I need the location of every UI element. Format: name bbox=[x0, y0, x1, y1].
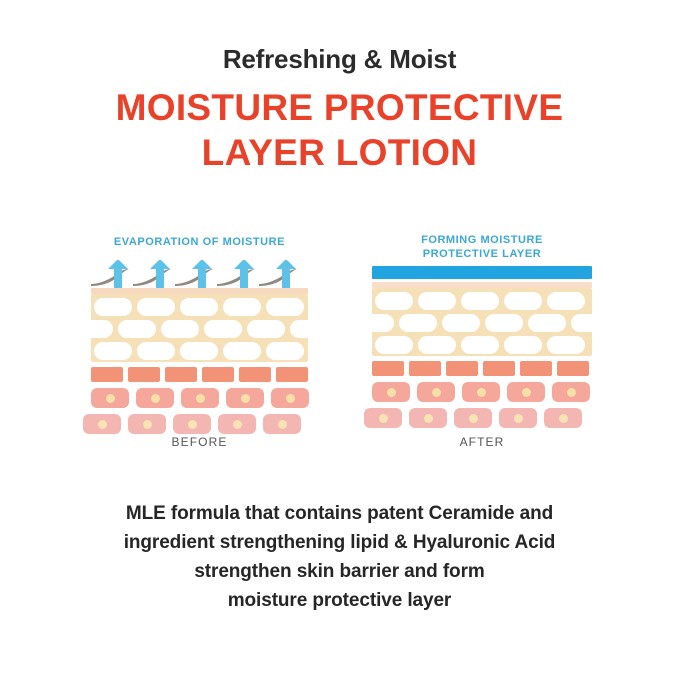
skin-cell bbox=[83, 414, 121, 434]
skin-cell bbox=[173, 414, 211, 434]
lipid-brick bbox=[485, 314, 523, 332]
lipid-brick bbox=[266, 298, 304, 316]
granular-cell bbox=[557, 361, 589, 376]
brick-row-3 bbox=[372, 336, 592, 354]
heading-block: Refreshing & Moist MOISTURE PROTECTIVE L… bbox=[0, 46, 679, 176]
lipid-brick bbox=[504, 336, 542, 354]
cell-nucleus bbox=[469, 414, 478, 423]
before-caption: EVAPORATION OF MOISTURE bbox=[86, 236, 313, 250]
cell-nucleus bbox=[196, 394, 205, 403]
skin-diagram: EVAPORATION OF MOISTURE bbox=[0, 228, 679, 468]
before-basal-row bbox=[91, 414, 308, 434]
skin-cell bbox=[544, 408, 582, 428]
skin-cell bbox=[91, 388, 129, 408]
granular-cell bbox=[372, 361, 404, 376]
brick-row-1 bbox=[372, 292, 592, 310]
after-caption: FORMING MOISTURE PROTECTIVE LAYER bbox=[372, 234, 592, 262]
after-stratum-corneum bbox=[372, 288, 592, 356]
skin-cell bbox=[499, 408, 537, 428]
cell-nucleus bbox=[559, 414, 568, 423]
cell-nucleus bbox=[241, 394, 250, 403]
lipid-brick bbox=[266, 342, 304, 360]
cell-nucleus bbox=[477, 388, 486, 397]
eyebrow-text: Refreshing & Moist bbox=[0, 46, 679, 73]
lipid-brick bbox=[180, 298, 218, 316]
lipid-brick bbox=[399, 314, 437, 332]
cell-nucleus bbox=[106, 394, 115, 403]
lipid-brick bbox=[547, 336, 585, 354]
cell-nucleus bbox=[151, 394, 160, 403]
description-line-3: strengthen skin barrier and form bbox=[55, 558, 624, 587]
lipid-brick bbox=[290, 320, 308, 338]
brick-row-2 bbox=[372, 314, 592, 332]
skin-cell bbox=[552, 382, 590, 402]
lipid-brick bbox=[528, 314, 566, 332]
moisture-protective-layer bbox=[372, 266, 592, 279]
granular-cell bbox=[128, 367, 160, 382]
cell-nucleus bbox=[432, 388, 441, 397]
lipid-brick bbox=[461, 336, 499, 354]
cell-nucleus bbox=[188, 420, 197, 429]
lipid-brick bbox=[442, 314, 480, 332]
lipid-brick bbox=[223, 298, 261, 316]
lipid-brick bbox=[94, 342, 132, 360]
skin-cell bbox=[128, 414, 166, 434]
cell-nucleus bbox=[424, 414, 433, 423]
skin-cell bbox=[454, 408, 492, 428]
skin-cell bbox=[218, 414, 256, 434]
before-stratum-corneum bbox=[91, 294, 308, 362]
lipid-brick bbox=[571, 314, 592, 332]
skin-cell bbox=[136, 388, 174, 408]
description-line-1: MLE formula that contains patent Ceramid… bbox=[55, 500, 624, 529]
cell-nucleus bbox=[278, 420, 287, 429]
lipid-brick bbox=[223, 342, 261, 360]
after-basal-row bbox=[372, 408, 592, 428]
granular-cell bbox=[91, 367, 123, 382]
headline-line-2: LAYER LOTION bbox=[0, 130, 679, 175]
evaporation-surface bbox=[91, 260, 308, 288]
granular-cell bbox=[409, 361, 441, 376]
product-infographic: Refreshing & Moist MOISTURE PROTECTIVE L… bbox=[0, 0, 679, 679]
lipid-brick bbox=[247, 320, 285, 338]
lipid-brick bbox=[504, 292, 542, 310]
description-line-4: moisture protective layer bbox=[55, 587, 624, 616]
cell-nucleus bbox=[233, 420, 242, 429]
lipid-brick bbox=[375, 336, 413, 354]
evaporation-arrows-icon bbox=[91, 260, 308, 288]
granular-cell bbox=[483, 361, 515, 376]
page-title: MOISTURE PROTECTIVE LAYER LOTION bbox=[0, 85, 679, 175]
lipid-brick bbox=[137, 298, 175, 316]
headline-line-1: MOISTURE PROTECTIVE bbox=[0, 85, 679, 130]
skin-cell bbox=[181, 388, 219, 408]
cell-nucleus bbox=[387, 388, 396, 397]
description-text: MLE formula that contains patent Ceramid… bbox=[55, 500, 624, 616]
lipid-brick bbox=[372, 314, 394, 332]
lipid-brick bbox=[118, 320, 156, 338]
lipid-brick bbox=[137, 342, 175, 360]
lipid-brick bbox=[91, 320, 113, 338]
skin-cell bbox=[364, 408, 402, 428]
before-spinous-row bbox=[91, 388, 308, 408]
granular-cell bbox=[239, 367, 271, 382]
cell-nucleus bbox=[379, 414, 388, 423]
cell-nucleus bbox=[143, 420, 152, 429]
cell-nucleus bbox=[522, 388, 531, 397]
lipid-brick bbox=[161, 320, 199, 338]
granular-cell bbox=[276, 367, 308, 382]
lipid-brick bbox=[418, 292, 456, 310]
after-granular-row bbox=[372, 361, 592, 376]
brick-row-3 bbox=[91, 342, 308, 360]
before-granular-row bbox=[91, 367, 308, 382]
skin-cell bbox=[271, 388, 309, 408]
cell-nucleus bbox=[98, 420, 107, 429]
lipid-brick bbox=[547, 292, 585, 310]
skin-cell bbox=[226, 388, 264, 408]
granular-cell bbox=[202, 367, 234, 382]
lipid-brick bbox=[418, 336, 456, 354]
after-spinous-row bbox=[372, 382, 592, 402]
cell-nucleus bbox=[286, 394, 295, 403]
lipid-brick bbox=[94, 298, 132, 316]
brick-row-1 bbox=[91, 298, 308, 316]
skin-cell bbox=[507, 382, 545, 402]
description-line-2: ingredient strengthening lipid & Hyaluro… bbox=[55, 529, 624, 558]
after-layer-stack bbox=[372, 266, 592, 428]
cell-nucleus bbox=[567, 388, 576, 397]
after-caption-line-1: FORMING MOISTURE bbox=[421, 234, 543, 246]
granular-cell bbox=[520, 361, 552, 376]
granular-cell bbox=[165, 367, 197, 382]
before-layer-stack bbox=[91, 260, 308, 434]
lipid-brick bbox=[180, 342, 218, 360]
lipid-brick bbox=[375, 292, 413, 310]
lipid-brick bbox=[461, 292, 499, 310]
skin-cell bbox=[409, 408, 447, 428]
skin-cell bbox=[263, 414, 301, 434]
before-label: BEFORE bbox=[91, 435, 308, 449]
skin-cell bbox=[417, 382, 455, 402]
after-label: AFTER bbox=[372, 435, 592, 449]
brick-row-2 bbox=[91, 320, 308, 338]
skin-cell bbox=[462, 382, 500, 402]
skin-cell bbox=[372, 382, 410, 402]
granular-cell bbox=[446, 361, 478, 376]
lipid-brick bbox=[204, 320, 242, 338]
after-caption-line-2: PROTECTIVE LAYER bbox=[423, 248, 541, 260]
cell-nucleus bbox=[514, 414, 523, 423]
